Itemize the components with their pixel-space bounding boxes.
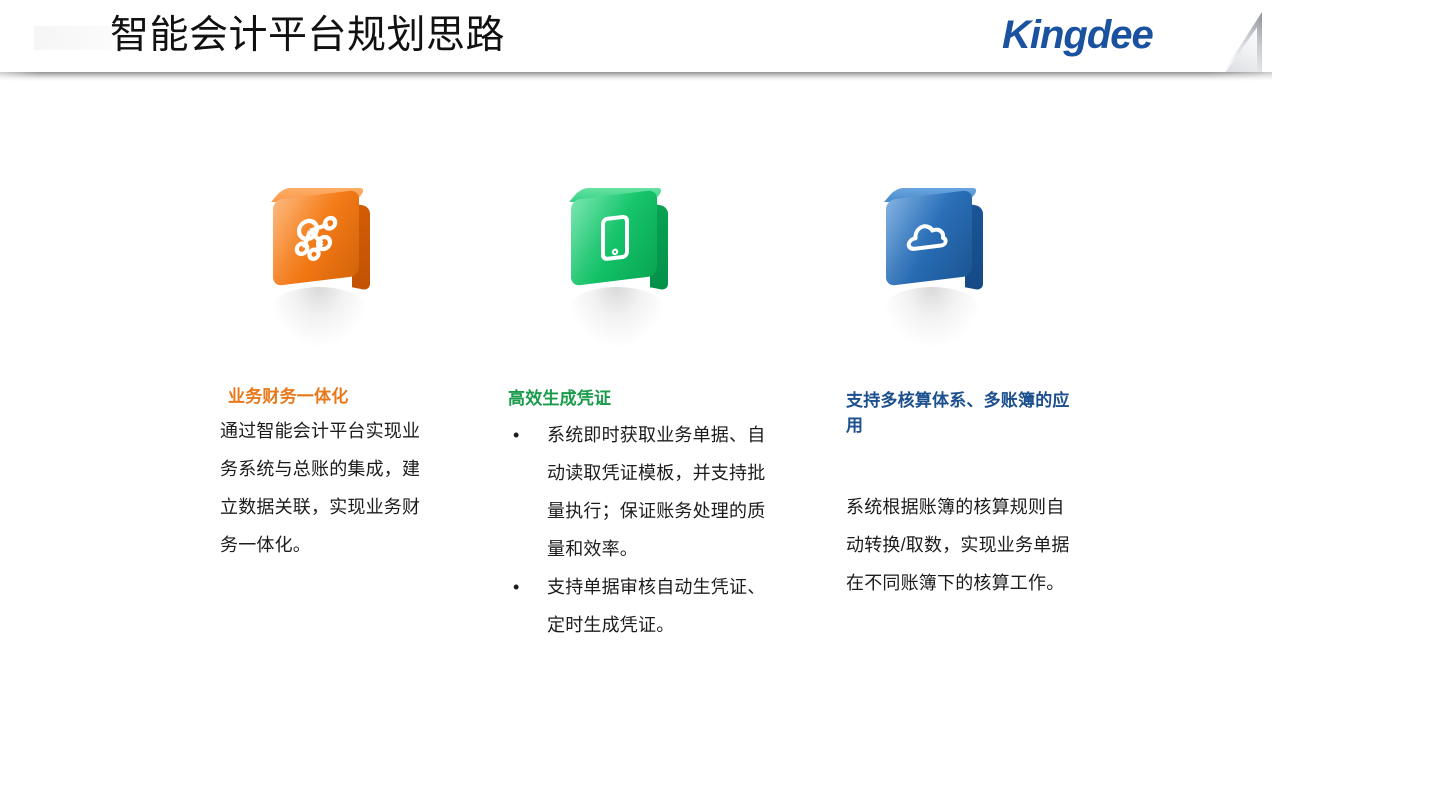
column-1-heading: 业务财务一体化 [228,384,488,409]
list-item: • 系统即时获取业务单据、自动读取凭证模板，并支持批量执行；保证账务处理的质量和… [505,416,783,568]
list-item-text: 支持单据审核自动生凭证、定时生成凭证。 [547,577,765,635]
bullet-dot-icon: • [513,568,520,606]
content-columns: 业务财务一体化 通过智能会计平台实现业务系统与总账的集成，建立数据关联，实现业务… [0,0,1440,810]
column-2-heading: 高效生成凭证 [508,386,788,411]
column-3-body: 系统根据账簿的核算规则自动转换/取数，实现业务单据在不同账簿下的核算工作。 [846,488,1076,602]
list-item-text: 系统即时获取业务单据、自动读取凭证模板，并支持批量执行；保证账务处理的质量和效率… [547,425,765,559]
bullet-dot-icon: • [513,416,520,454]
column-3-heading: 支持多核算体系、多账簿的应用 [846,388,1076,438]
column-1-body: 通过智能会计平台实现业务系统与总账的集成，建立数据关联，实现业务财务一体化。 [220,412,435,564]
column-2-bullet-list: • 系统即时获取业务单据、自动读取凭证模板，并支持批量执行；保证账务处理的质量和… [505,416,783,644]
list-item: • 支持单据审核自动生凭证、定时生成凭证。 [505,568,783,644]
